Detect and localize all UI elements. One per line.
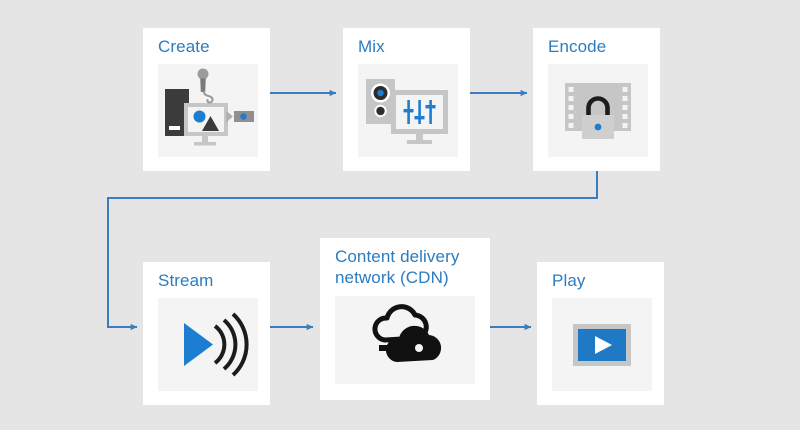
cloud-network-icon <box>335 296 475 384</box>
node-title-cdn: Content delivery network (CDN) <box>335 246 459 288</box>
computer-microphone-camera-icon <box>158 64 258 157</box>
node-title-mix: Mix <box>358 36 385 57</box>
icon-panel-create <box>158 64 258 157</box>
workflow-diagram: Create <box>0 0 800 430</box>
play-broadcast-waves-icon <box>158 298 258 391</box>
node-title-encode: Encode <box>548 36 606 57</box>
node-title-create: Create <box>158 36 210 57</box>
icon-panel-cdn <box>335 296 475 384</box>
speaker-mixer-monitor-icon <box>358 64 458 157</box>
node-card-mix[interactable]: Mix <box>343 28 470 171</box>
film-strip-lock-icon <box>548 64 648 157</box>
icon-panel-play <box>552 298 652 391</box>
icon-panel-encode <box>548 64 648 157</box>
node-card-play[interactable]: Play <box>537 262 664 405</box>
icon-panel-mix <box>358 64 458 157</box>
icon-panel-stream <box>158 298 258 391</box>
node-title-play: Play <box>552 270 585 291</box>
node-card-stream[interactable]: Stream <box>143 262 270 405</box>
video-player-play-icon <box>552 298 652 391</box>
node-card-cdn[interactable]: Content delivery network (CDN) <box>320 238 490 400</box>
node-card-encode[interactable]: Encode <box>533 28 660 171</box>
node-card-create[interactable]: Create <box>143 28 270 171</box>
node-title-stream: Stream <box>158 270 213 291</box>
